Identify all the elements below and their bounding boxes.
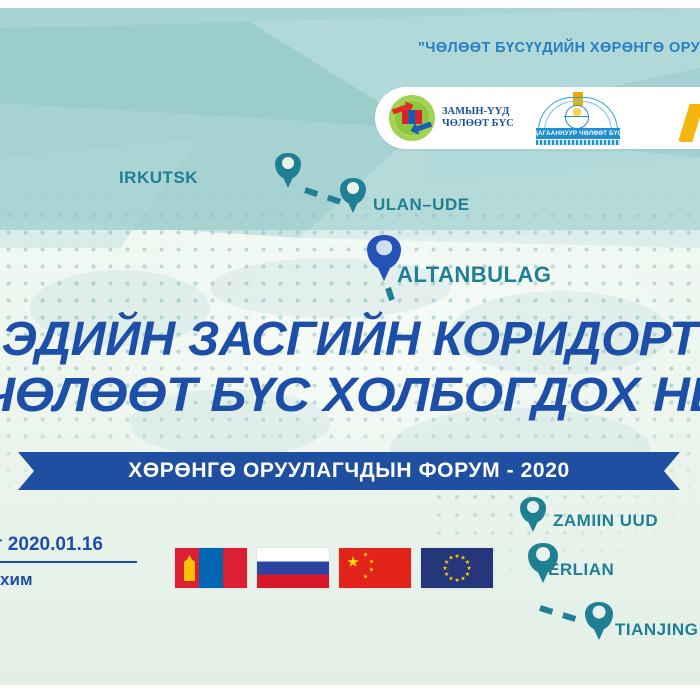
mongolia-flag-icon bbox=[402, 110, 422, 124]
zamiin-uud-logo-line2: ЧӨЛӨӨТ БҮС bbox=[442, 118, 514, 130]
eu-star-icon bbox=[455, 554, 460, 559]
china-star-small-icon bbox=[369, 559, 374, 564]
tsagaannuur-logo-text: ЦАГААННУУР ЧӨЛӨӨТ БҮС bbox=[533, 130, 622, 137]
pin-hole bbox=[347, 182, 359, 194]
sponsor-logo-card: ЗАМЫН-ҮҮД ЧӨЛӨӨТ БҮС ЦАГААННУУР ЧӨЛӨӨТ Б… bbox=[375, 87, 700, 149]
map-pin-ulan-ude bbox=[340, 178, 366, 204]
top-white-margin bbox=[0, 0, 700, 8]
flag-european-union bbox=[421, 548, 493, 588]
pin-hole bbox=[376, 240, 392, 256]
city-label-ulan-ude: ULAN–UDE bbox=[373, 195, 470, 215]
city-label-tianjing: TIANJING bbox=[615, 620, 698, 640]
city-label-altanbulag: ALTANBULAG bbox=[397, 262, 552, 288]
globe-icon bbox=[565, 105, 589, 129]
poster-canvas: "ЧӨЛӨӨТ БҮСҮҮДИЙН ХӨРӨНГӨ ОРУУ ЗАМЫН-ҮҮД… bbox=[0, 0, 700, 700]
venue-info-block: хот 2020.01.16 танхим bbox=[0, 534, 162, 590]
map-pin-tianjing bbox=[585, 602, 613, 630]
map-pin-irkutsk bbox=[275, 153, 301, 179]
yellow-swoosh-icon bbox=[678, 104, 700, 142]
tsagaannuur-logo-band: ЦАГААННУУР ЧӨЛӨӨТ БҮС bbox=[536, 128, 620, 139]
pin-hole bbox=[536, 547, 550, 561]
zamiin-uud-globe-icon bbox=[389, 95, 435, 141]
venue-divider bbox=[0, 561, 137, 563]
map-pin-zamiin-uud bbox=[520, 497, 546, 523]
country-flags-row bbox=[175, 548, 493, 588]
eu-star-icon bbox=[449, 576, 454, 581]
logo-third-partial bbox=[678, 100, 700, 144]
pin-body bbox=[275, 153, 301, 179]
bottom-white-margin bbox=[0, 685, 700, 700]
forum-ribbon-label: ХӨРӨНГӨ ОРУУЛАГЧДЫН ФОРУМ - 2020 bbox=[18, 452, 680, 490]
pin-hole bbox=[593, 606, 606, 619]
pin-body bbox=[585, 602, 613, 630]
logo-zamiin-uud: ЗАМЫН-ҮҮД ЧӨЛӨӨТ БҮС bbox=[389, 95, 514, 141]
venue-hall: танхим bbox=[0, 570, 162, 590]
china-star-small-icon bbox=[363, 574, 368, 579]
logo-tsagaannuur: ЦАГААННУУР ЧӨЛӨӨТ БҮС bbox=[526, 91, 630, 145]
pin-body bbox=[520, 497, 546, 523]
zamiin-uud-logo-line1: ЗАМЫН-ҮҮД bbox=[442, 106, 514, 118]
pin-body bbox=[367, 235, 401, 269]
eu-star-icon bbox=[444, 572, 449, 577]
eu-star-icon bbox=[467, 566, 472, 571]
eu-star-icon bbox=[465, 560, 470, 565]
flag-mongolia bbox=[175, 548, 247, 588]
eu-star-icon bbox=[444, 560, 449, 565]
city-label-zamiin-uud: ZAMIIN UUD bbox=[553, 511, 658, 531]
map-pin-altanbulag bbox=[367, 235, 401, 269]
china-star-large-icon bbox=[347, 556, 359, 568]
china-star-small-icon bbox=[363, 552, 368, 557]
soyombo-emblem-icon bbox=[184, 555, 195, 581]
eu-star-icon bbox=[461, 576, 466, 581]
eu-star-icon bbox=[465, 572, 470, 577]
venue-city-date: хот 2020.01.16 bbox=[0, 534, 162, 556]
headline-line-2: ЧӨЛӨӨТ БҮС ХОЛБОГДОХ НЬ bbox=[0, 368, 700, 424]
city-label-irkutsk: IRKUTSK bbox=[0, 168, 198, 188]
pin-hole bbox=[282, 157, 294, 169]
flag-china bbox=[339, 548, 411, 588]
city-label-erlian: ERLIAN bbox=[548, 560, 614, 580]
flag-russia bbox=[257, 548, 329, 588]
eu-star-icon bbox=[449, 555, 454, 560]
zamiin-uud-logo-text: ЗАМЫН-ҮҮД ЧӨЛӨӨТ БҮС bbox=[442, 106, 514, 130]
pin-hole bbox=[527, 501, 539, 513]
pin-body bbox=[340, 178, 366, 204]
china-star-small-icon bbox=[369, 567, 374, 572]
headline-line-1: ЭДИЙН ЗАСГИЙН КОРИДОРТ bbox=[0, 312, 700, 368]
header-strip-text: "ЧӨЛӨӨТ БҮСҮҮДИЙН ХӨРӨНГӨ ОРУУ bbox=[418, 40, 700, 56]
eu-star-icon bbox=[461, 555, 466, 560]
tsagaannuur-logo-band-pattern bbox=[536, 140, 620, 145]
eu-star-icon bbox=[443, 566, 448, 571]
eu-star-icon bbox=[455, 578, 460, 583]
